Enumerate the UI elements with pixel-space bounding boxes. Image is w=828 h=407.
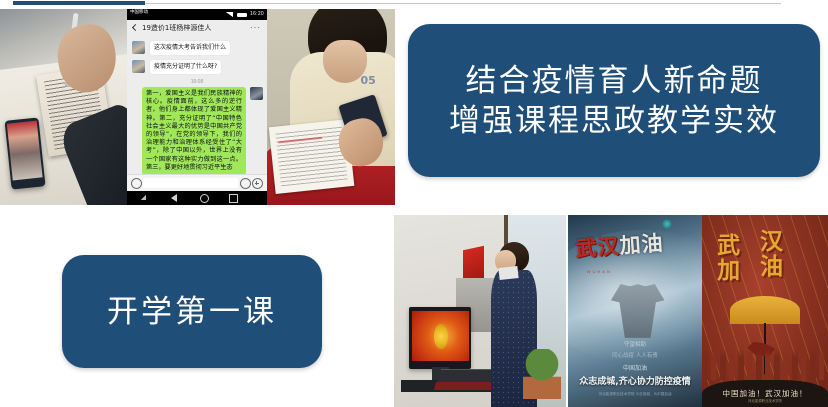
message-bubble: 第一，爱国主义是我们民族精神的核心。疫情面前，这么多的逆行者，他们身上都体现了爱… [142,87,246,175]
poster-slogan: 众志成城,齐心协力防控疫情 [568,374,702,387]
phone-status-bar: 中国移动 16:20 [127,9,267,20]
photo-student-phone: 05 [267,9,395,205]
keyboard [437,369,496,383]
poster-title-right: 汉 油 [760,230,783,280]
avatar [132,41,145,54]
potted-plant [523,349,561,399]
chat-title: 19造价1班杨梓源佳人 [142,23,211,33]
battery-icon [237,13,247,18]
title-line-1: 结合疫情育人新命题 [449,61,779,101]
subtitle-text: 开学第一课 [107,293,277,331]
poster-line-3: 中国加油 [568,363,702,372]
title-banner: 结合疫情育人新命题 增强课程思政教学实效 [408,24,820,177]
carrier-label: 中国移动 [130,10,148,15]
plus-icon[interactable] [252,178,263,189]
chat-message-outgoing: 第一，爱国主义是我们民族精神的核心。疫情面前，这么多的逆行者，他们身上都体现了爱… [127,87,263,175]
poster-title-white: 加油 [619,231,665,258]
chat-message-incoming: 这次疫情大考告诉我们什么 [132,41,267,55]
emoji-icon[interactable] [240,178,251,189]
chat-message-list[interactable]: 这次疫情大考告诉我们什么 疫情充分证明了什么呀? 16:08 第一，爱国主义是我… [127,36,267,175]
signal-icon [226,12,233,17]
subtitle-banner: 开学第一课 [62,255,322,368]
back-icon[interactable] [171,194,177,202]
message-bubble: 疫情充分证明了什么呀? [150,60,221,74]
chat-text-input[interactable] [143,178,238,188]
chat-input-bar[interactable] [127,174,267,191]
message-bubble: 这次疫情大考告诉我们什么 [150,41,230,55]
poster-title-left: 武 加 [717,234,740,284]
chevron-left-icon[interactable] [132,24,137,32]
city-skyline [702,349,828,380]
poster-title-red: 武汉 [575,234,621,261]
phone-screen [7,121,43,181]
voice-icon[interactable] [131,178,142,189]
hide-keyboard-icon[interactable] [141,195,146,200]
home-icon[interactable] [200,194,209,203]
header-accent-bar [13,1,145,5]
chat-message-incoming: 疫情充分证明了什么呀? [132,60,267,74]
title-text: 结合疫情育人新命题 增强课程思政教学实效 [449,61,779,141]
collar [498,266,518,279]
keyboard-tray [434,382,495,390]
poster-footer: 河北能源职业技术学院 众志成城，为中国加油 [568,392,702,397]
poster-line-1: 守望相助 [568,340,702,348]
avatar [132,60,145,73]
national-emblem-icon [434,324,448,349]
more-icon[interactable]: ··· [250,26,261,30]
poster-line-2: 同心战疫 人人有责 [568,351,702,359]
clock-label: 16:20 [250,9,264,20]
umbrella-icon [730,296,801,325]
photo-desk-writing [0,9,127,205]
photo-poster-wuhan-wave: 武汉加油 WUHAN 守望相助 同心战疫 人人有责 中国加油 众志成城,齐心协力… [568,215,702,407]
photo-teacher-computer [394,215,566,407]
photo-chat-screenshot: 中国移动 16:20 19造价1班杨梓源佳人 ··· 这次疫情大考告诉我们什么 … [127,9,267,205]
note-lines [276,126,348,186]
virus-icon [662,219,672,229]
avatar [250,87,263,100]
poster-footer: 河北能源职业技术学院 [702,398,828,403]
poster-footer-band: 中国加油！武汉加油！ 河北能源职业技术学院 [702,380,828,407]
smartphone [4,117,45,189]
android-nav-bar [127,191,267,205]
title-line-2: 增强课程思政教学实效 [449,101,779,141]
monitor [409,307,471,368]
poster-pinyin: WUHAN [587,269,612,274]
slide-canvas: 中国移动 16:20 19造价1班杨梓源佳人 ··· 这次疫情大考告诉我们什么 … [0,0,828,407]
message-timestamp: 16:08 [127,79,267,85]
recents-icon[interactable] [229,194,238,203]
photo-poster-wuhan-umbrella: 武 加 汉 油 中国加油！武汉加油！ 河北能源职业技术学院 [702,215,828,407]
chat-header: 19造价1班杨梓源佳人 ··· [127,20,267,37]
